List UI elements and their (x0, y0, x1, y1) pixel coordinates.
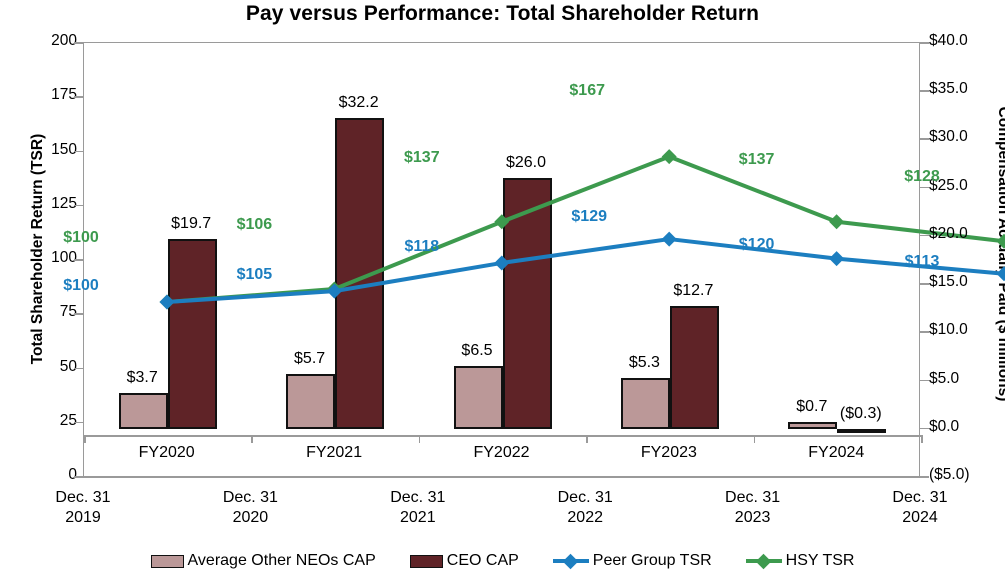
legend-swatch-icon (410, 555, 443, 568)
date-label-line2: 2022 (505, 508, 665, 528)
date-label-line1: Dec. 31 (505, 488, 665, 508)
hsy-tsr-value-label: $137 (362, 149, 482, 167)
hsy-tsr-value-label: $100 (21, 229, 141, 247)
y-axis-left-tick-label: 25 (60, 412, 77, 430)
marker-hsy-tsr (829, 214, 844, 229)
x-axis-date-label: Dec. 312024 (840, 488, 1000, 528)
y-axis-left-tick-mark (74, 313, 83, 315)
y-axis-left-tick-label: 175 (51, 86, 77, 104)
y-axis-right-tick-mark (920, 90, 929, 92)
y-axis-right-tick-label: $30.0 (929, 128, 968, 146)
y-axis-right-tick-mark (920, 138, 929, 140)
legend-item[interactable]: HSY TSR (746, 552, 855, 570)
date-label-line2: 2019 (3, 508, 163, 528)
y-axis-right-tick-label: $5.0 (929, 370, 959, 388)
y-axis-right-tick-mark (920, 283, 929, 285)
y-axis-right-tick-label: $15.0 (929, 273, 968, 291)
date-label-line2: 2021 (338, 508, 498, 528)
y-axis-left-title: Total Shareholder Return (TSR) (29, 84, 47, 414)
date-label-line1: Dec. 31 (338, 488, 498, 508)
marker-peer-group-tsr (160, 295, 175, 310)
y-axis-left-tick-mark (74, 42, 83, 44)
x-axis-date-label: Dec. 312019 (3, 488, 163, 528)
date-label-line1: Dec. 31 (170, 488, 330, 508)
y-axis-right-tick-label: $40.0 (929, 32, 968, 50)
y-axis-right-tick-label: ($5.0) (929, 466, 970, 484)
y-axis-left-tick-mark (74, 259, 83, 261)
bar-value-label: $6.5 (422, 342, 532, 360)
y-axis-right-tick-label: $10.0 (929, 321, 968, 339)
y-axis-left-tick-mark (74, 476, 83, 478)
y-axis-right-tick-mark (920, 42, 929, 44)
bar-value-label: $12.7 (638, 282, 748, 300)
y-axis-right-tick-mark (920, 428, 929, 430)
x-axis-tick-mark (84, 435, 86, 443)
y-axis-left-tick-label: 150 (51, 141, 77, 159)
legend-item-label: HSY TSR (786, 552, 855, 570)
bar-neo-cap (119, 393, 168, 429)
y-axis-left-tick-mark (74, 205, 83, 207)
legend-item-label: Average Other NEOs CAP (188, 552, 376, 570)
date-label-line1: Dec. 31 (673, 488, 833, 508)
bar-value-label: $32.2 (304, 94, 414, 112)
marker-peer-group-tsr (997, 266, 1005, 281)
x-axis-date-label: Dec. 312023 (673, 488, 833, 528)
y-axis-left-tick-mark (74, 422, 83, 424)
x-axis-date-label: Dec. 312020 (170, 488, 330, 528)
y-axis-right-tick-mark (920, 476, 929, 478)
bar-value-label: $5.3 (589, 354, 699, 372)
y-axis-left-tick-label: 200 (51, 32, 77, 50)
y-axis-right-tick-mark (920, 331, 929, 333)
peer-group-tsr-value-label: $129 (529, 208, 649, 226)
hsy-tsr-value-label: $137 (697, 151, 817, 169)
y-axis-right-tick-mark (920, 380, 929, 382)
y-axis-right-tick-mark (920, 187, 929, 189)
legend-line-diamond-icon (553, 554, 589, 568)
hsy-tsr-value-label: $167 (527, 82, 647, 100)
y-axis-left-tick-mark (74, 96, 83, 98)
chart-legend: Average Other NEOs CAPCEO CAPPeer Group … (0, 552, 1005, 570)
marker-peer-group-tsr (829, 251, 844, 266)
peer-group-tsr-value-label: $105 (194, 266, 314, 284)
marker-peer-group-tsr (494, 255, 509, 270)
y-axis-left-tick-label: 100 (51, 249, 77, 267)
bar-value-label: ($0.3) (806, 405, 916, 423)
marker-hsy-tsr (662, 149, 677, 164)
y-axis-left-tick-mark (74, 368, 83, 370)
y-axis-right-tick-label: $20.0 (929, 225, 968, 243)
chart-container: Pay versus Performance: Total Shareholde… (0, 0, 1005, 580)
legend-item[interactable]: Average Other NEOs CAP (151, 552, 376, 570)
y-axis-left-tick-label: 50 (60, 358, 77, 376)
date-label-line1: Dec. 31 (3, 488, 163, 508)
hsy-tsr-value-label: $106 (194, 216, 314, 234)
date-label-line2: 2023 (673, 508, 833, 528)
bar-value-label: $26.0 (471, 154, 581, 172)
category-label: FY2021 (254, 444, 414, 462)
legend-item-label: CEO CAP (447, 552, 519, 570)
legend-swatch-icon (151, 555, 184, 568)
marker-peer-group-tsr (662, 232, 677, 247)
date-label-line2: 2020 (170, 508, 330, 528)
category-label: FY2024 (756, 444, 916, 462)
x-axis-line (83, 476, 921, 478)
x-axis-date-label: Dec. 312021 (338, 488, 498, 528)
marker-hsy-tsr (997, 234, 1005, 249)
legend-item[interactable]: CEO CAP (410, 552, 519, 570)
bar-value-label: $5.7 (255, 350, 365, 368)
bar-value-label: $3.7 (87, 369, 197, 387)
category-label: FY2023 (589, 444, 749, 462)
legend-line-diamond-icon (746, 554, 782, 568)
legend-item-label: Peer Group TSR (593, 552, 712, 570)
legend-item[interactable]: Peer Group TSR (553, 552, 712, 570)
date-label-line2: 2024 (840, 508, 1000, 528)
y-axis-left-tick-label: 0 (68, 466, 77, 484)
y-axis-left-tick-label: 75 (60, 303, 77, 321)
peer-group-tsr-value-label: $113 (862, 253, 982, 271)
peer-group-tsr-value-label: $120 (697, 236, 817, 254)
peer-group-tsr-value-label: $118 (362, 238, 482, 256)
x-axis-date-label: Dec. 312022 (505, 488, 665, 528)
y-axis-right-tick-label: $0.0 (929, 418, 959, 436)
y-axis-left-tick-mark (74, 151, 83, 153)
category-label: FY2022 (422, 444, 582, 462)
date-label-line1: Dec. 31 (840, 488, 1000, 508)
marker-hsy-tsr (494, 214, 509, 229)
peer-group-tsr-value-label: $100 (21, 277, 141, 295)
hsy-tsr-value-label: $128 (862, 168, 982, 186)
y-axis-right-tick-mark (920, 235, 929, 237)
chart-title: Pay versus Performance: Total Shareholde… (0, 2, 1005, 26)
y-axis-right-tick-label: $35.0 (929, 80, 968, 98)
category-label: FY2020 (87, 444, 247, 462)
y-axis-left-tick-label: 125 (51, 195, 77, 213)
